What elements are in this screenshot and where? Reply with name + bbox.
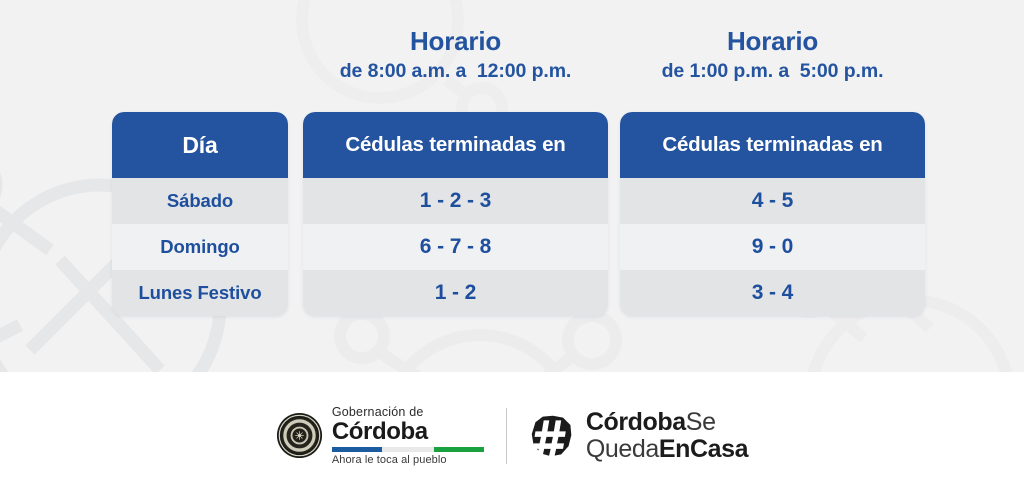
table-row: Lunes Festivo [112,270,288,316]
hashtag-icon [529,413,575,459]
schedule-table: Día Sábado Domingo Lunes Festivo Cédulas… [0,112,1024,317]
campaign-line-1-light: Se [686,408,716,436]
footer-logos: Gobernación de Córdoba Ahora le toca al … [276,405,748,467]
table-row: Sábado [112,178,288,224]
gobernacion-line-2: Córdoba [332,419,484,444]
footer-divider [506,408,507,464]
table-row: 6 - 7 - 8 [303,224,608,270]
government-seal-icon [276,412,323,459]
table-row: 3 - 4 [620,270,925,316]
campaign-line-2-light: Queda [586,435,659,463]
table-row: 9 - 0 [620,224,925,270]
campaign-line-2-bold: EnCasa [659,435,748,463]
table-row: 4 - 5 [620,178,925,224]
table-column-day: Día Sábado Domingo Lunes Festivo [112,112,288,316]
table-row: Domingo [112,224,288,270]
campaign-line-1-bold: Córdoba [586,408,686,436]
cordoba-se-queda-en-casa-logo: CórdobaSe QuedaEnCasa [529,409,748,463]
table-row: 1 - 2 [303,270,608,316]
gobernacion-wordmark: Gobernación de Córdoba Ahora le toca al … [332,405,484,467]
schedule-heading-afternoon-subtitle: de 1:00 p.m. a 5:00 p.m. [620,58,925,84]
footer-bar: Gobernación de Córdoba Ahora le toca al … [0,372,1024,493]
table-column-day-header: Día [112,112,288,178]
schedule-heading-morning: Horario de 8:00 a.m. a 12:00 p.m. [303,26,608,84]
schedule-heading-afternoon-title: Horario [620,26,925,56]
schedule-heading-morning-subtitle: de 8:00 a.m. a 12:00 p.m. [303,58,608,84]
campaign-line-2: QuedaEnCasa [586,436,748,463]
table-column-morning-header: Cédulas terminadas en [303,112,608,178]
schedule-heading-afternoon: Horario de 1:00 p.m. a 5:00 p.m. [620,26,925,84]
table-column-morning-ids: Cédulas terminadas en 1 - 2 - 3 6 - 7 - … [303,112,608,316]
table-column-afternoon-ids: Cédulas terminadas en 4 - 5 9 - 0 3 - 4 [620,112,925,316]
table-row: 1 - 2 - 3 [303,178,608,224]
campaign-wordmark: CórdobaSe QuedaEnCasa [586,409,748,463]
gobernacion-color-bar [332,447,484,452]
gobernacion-cordoba-logo: Gobernación de Córdoba Ahora le toca al … [276,405,484,467]
schedule-headings: Horario de 8:00 a.m. a 12:00 p.m. Horari… [0,26,1024,96]
table-column-afternoon-header: Cédulas terminadas en [620,112,925,178]
gobernacion-tagline: Ahora le toca al pueblo [332,454,484,467]
gobernacion-line-1: Gobernación de [332,405,484,419]
schedule-heading-morning-title: Horario [303,26,608,56]
campaign-line-1: CórdobaSe [586,409,748,436]
infographic-canvas: Horario de 8:00 a.m. a 12:00 p.m. Horari… [0,0,1024,493]
